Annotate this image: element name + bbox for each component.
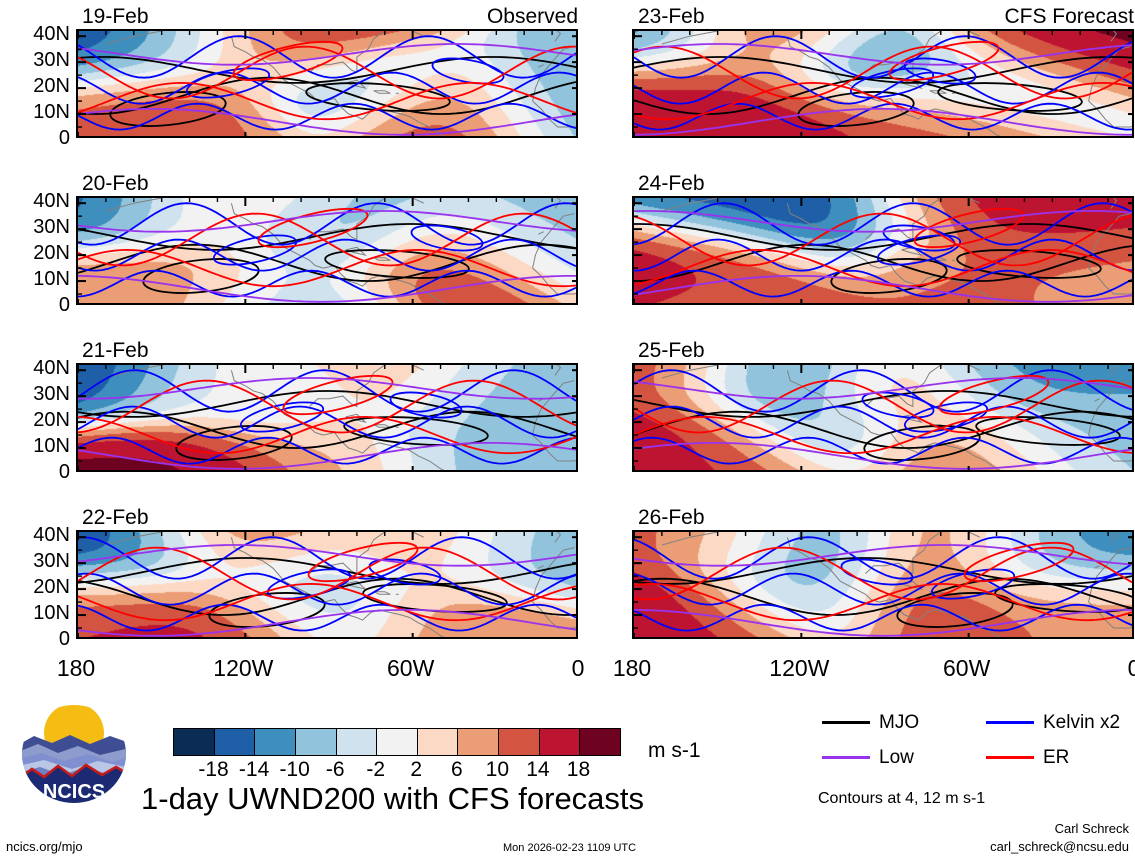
colorbar-bin-0 — [174, 729, 215, 755]
plot-area — [632, 196, 1134, 305]
contour-low — [634, 610, 1132, 636]
plot-area — [76, 530, 578, 639]
colorbar-tick-10: 10 — [475, 759, 519, 780]
contour-mjo — [830, 254, 949, 298]
x-tick-label-120W: 120W — [754, 657, 844, 680]
logo-text: NCICS — [43, 781, 105, 803]
colorbar-tick--6: -6 — [313, 759, 357, 780]
overlay-contours — [634, 198, 1134, 305]
y-tick-label-10N: 10N — [0, 436, 70, 456]
colorbar-tick--14: -14 — [232, 759, 276, 780]
y-tick-label-0: 0 — [0, 629, 70, 649]
plot-area — [632, 29, 1134, 138]
plot-area — [76, 363, 578, 472]
panel-kind-label: CFS Forecast — [632, 6, 1134, 27]
contour-mjo — [78, 57, 576, 83]
legend-swatch-er — [986, 756, 1034, 759]
overlay-contours — [78, 31, 578, 138]
panel-date-label: 20-Feb — [82, 173, 149, 194]
colorbar-bin-10 — [580, 729, 620, 755]
colorbar-bin-9 — [540, 729, 581, 755]
colorbar-tick-6: 6 — [435, 759, 479, 780]
overlay-contours — [634, 31, 1134, 138]
y-tick-label-40N: 40N — [0, 24, 70, 44]
overlay-contours — [78, 198, 578, 305]
contour-low — [78, 378, 576, 399]
contour-mjo — [975, 413, 1120, 449]
contour-kelvin — [634, 438, 1132, 464]
overlay-contours — [634, 532, 1134, 639]
y-tick-label-30N: 30N — [0, 217, 70, 237]
x-tick-label-60W: 60W — [366, 657, 456, 680]
y-tick-label-30N: 30N — [0, 50, 70, 70]
legend-swatch-kelvin — [986, 721, 1034, 724]
x-tick-label-180: 180 — [31, 657, 121, 680]
colorbar-units-label: m s-1 — [648, 740, 701, 761]
legend-swatch-mjo — [822, 721, 870, 724]
legend-label-mjo: MJO — [879, 713, 919, 732]
overlay-contours — [634, 365, 1134, 472]
contour-interval-note: Contours at 4, 12 m s-1 — [818, 791, 985, 807]
footer-email[interactable]: carl_schreck@ncsu.edu — [990, 840, 1129, 853]
contour-kelvin — [634, 407, 1132, 438]
legend-label-low: Low — [879, 748, 914, 767]
y-tick-label-40N: 40N — [0, 525, 70, 545]
colorbar-bin-2 — [255, 729, 296, 755]
x-tick-label-180: 180 — [587, 657, 677, 680]
y-tick-label-20N: 20N — [0, 76, 70, 96]
legend-item-mjo: MJO — [822, 713, 919, 732]
y-tick-label-20N: 20N — [0, 243, 70, 263]
y-tick-label-40N: 40N — [0, 358, 70, 378]
contour-low — [634, 378, 1132, 399]
footer-site-link[interactable]: ncics.org/mjo — [6, 840, 83, 853]
y-tick-label-30N: 30N — [0, 384, 70, 404]
x-tick-label-120W: 120W — [198, 657, 288, 680]
panel-date-label: 26-Feb — [638, 507, 705, 528]
legend-item-er: ER — [986, 748, 1069, 767]
page-title: 1-day UWND200 with CFS forecasts — [141, 783, 644, 814]
x-tick-label-60W: 60W — [922, 657, 1012, 680]
y-tick-label-10N: 10N — [0, 269, 70, 289]
contour-kelvin — [78, 438, 576, 464]
contour-er — [255, 201, 370, 255]
colorbar-tick--2: -2 — [354, 759, 398, 780]
contour-kelvin — [634, 104, 1132, 130]
plot-area — [76, 29, 578, 138]
colorbar-tick--10: -10 — [273, 759, 317, 780]
colorbar-tick-18: 18 — [556, 759, 600, 780]
y-tick-label-10N: 10N — [0, 102, 70, 122]
contour-low — [78, 443, 576, 469]
panel-date-label: 25-Feb — [638, 340, 705, 361]
contour-er — [78, 381, 576, 433]
contour-er — [78, 83, 576, 119]
contour-mjo — [142, 254, 261, 298]
contour-er — [280, 368, 395, 422]
legend-label-er: ER — [1043, 748, 1069, 767]
ncics-logo: NCICS — [18, 703, 130, 805]
colorbar-bin-3 — [296, 729, 337, 755]
y-tick-label-20N: 20N — [0, 410, 70, 430]
plot-area — [632, 530, 1134, 639]
colorbar — [173, 728, 621, 756]
contour-low — [78, 109, 576, 135]
footer-timestamp: Mon 2026-02-23 1109 UTC — [503, 843, 636, 854]
panel-kind-label: Observed — [76, 6, 578, 27]
contour-low — [78, 610, 576, 636]
contour-kelvin — [634, 203, 1132, 245]
plot-area — [76, 196, 578, 305]
overlay-contours — [78, 532, 578, 639]
overlay-contours — [78, 365, 578, 472]
axis-ticks — [634, 31, 1134, 138]
colorbar-tick--18: -18 — [192, 759, 236, 780]
legend-item-kelvin: Kelvin x2 — [986, 713, 1120, 732]
y-tick-label-40N: 40N — [0, 191, 70, 211]
legend-item-low: Low — [822, 748, 914, 767]
colorbar-tick-2: 2 — [394, 759, 438, 780]
y-tick-label-0: 0 — [0, 128, 70, 148]
colorbar-bin-5 — [377, 729, 418, 755]
legend-label-kelvin: Kelvin x2 — [1043, 713, 1120, 732]
legend-swatch-low — [822, 756, 870, 759]
plot-area — [632, 363, 1134, 472]
contour-kelvin — [78, 537, 576, 579]
y-tick-label-0: 0 — [0, 295, 70, 315]
y-tick-label-10N: 10N — [0, 603, 70, 623]
contour-mjo — [634, 224, 1132, 250]
x-tick-label-0: 0 — [1089, 657, 1135, 680]
contour-mjo — [863, 421, 982, 465]
y-tick-label-30N: 30N — [0, 551, 70, 571]
y-tick-label-20N: 20N — [0, 577, 70, 597]
colorbar-bin-1 — [215, 729, 256, 755]
colorbar-bin-6 — [418, 729, 459, 755]
colorbar-tick-14: 14 — [516, 759, 560, 780]
panel-date-label: 24-Feb — [638, 173, 705, 194]
colorbar-bin-7 — [458, 729, 499, 755]
contour-mjo — [175, 421, 294, 465]
y-tick-label-0: 0 — [0, 462, 70, 482]
colorbar-bin-4 — [337, 729, 378, 755]
contour-kelvin — [238, 397, 325, 438]
footer-author: Carl Schreck — [1055, 822, 1129, 835]
contour-er — [78, 417, 576, 453]
panel-date-label: 22-Feb — [82, 507, 149, 528]
colorbar-bin-8 — [499, 729, 540, 755]
panel-date-label: 21-Feb — [82, 340, 149, 361]
